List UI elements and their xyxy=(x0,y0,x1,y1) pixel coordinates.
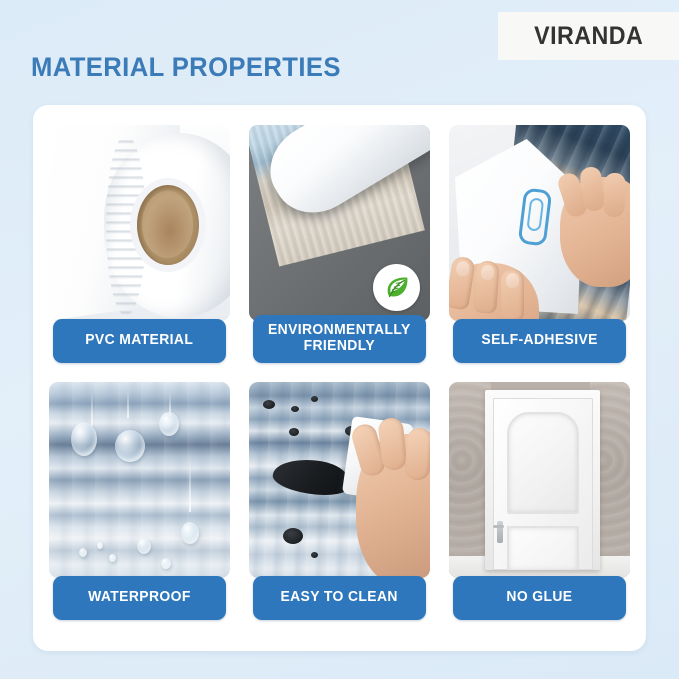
feature-cell-no-glue[interactable]: NO GLUE xyxy=(449,382,630,620)
feature-label-pvc-material: PVC MATERIAL xyxy=(53,319,226,363)
feature-label-no-glue: NO GLUE xyxy=(453,576,626,620)
brand-name: VIRANDA xyxy=(534,22,643,51)
feature-label-self-adhesive: SELF-ADHESIVE xyxy=(453,319,626,363)
feature-label-waterproof: WATERPROOF xyxy=(53,576,226,620)
feature-cell-self-adhesive[interactable]: SELF-ADHESIVE xyxy=(449,125,630,363)
door-handle-icon xyxy=(497,521,503,543)
feature-cell-waterproof[interactable]: WATERPROOF xyxy=(49,382,230,620)
feature-label-text: NO GLUE xyxy=(506,590,572,606)
feature-label-text: EASY TO CLEAN xyxy=(281,590,398,606)
hand-right xyxy=(560,177,630,287)
door-slab xyxy=(493,398,593,570)
feature-image-waterproof xyxy=(49,382,230,578)
roll-core-icon xyxy=(137,185,199,265)
feature-image-pvc-roll xyxy=(49,125,230,321)
feature-image-self-adhesive xyxy=(449,125,630,321)
feature-label-text: WATERPROOF xyxy=(88,590,191,606)
leaf-icon xyxy=(382,273,412,303)
page-title: MATERIAL PROPERTIES xyxy=(31,52,341,83)
door-frame xyxy=(485,390,600,570)
hand-holding-cloth xyxy=(356,434,430,578)
feature-image-eco-wallpaper xyxy=(249,125,430,321)
feature-label-text: SELF-ADHESIVE xyxy=(481,333,597,349)
stain-smear xyxy=(271,454,353,500)
feature-cell-pvc-material[interactable]: PVC MATERIAL xyxy=(49,125,230,363)
eco-leaf-badge xyxy=(373,264,420,311)
feature-grid: PVC MATERIAL xyxy=(49,125,630,620)
feature-card: PVC MATERIAL xyxy=(33,105,646,651)
feature-image-no-glue-door xyxy=(449,382,630,578)
feature-cell-environmentally-friendly[interactable]: ENVIRONMENTALLYFRIENDLY xyxy=(249,125,430,363)
feature-cell-easy-to-clean[interactable]: EASY TO CLEAN xyxy=(249,382,430,620)
feature-image-easy-to-clean xyxy=(249,382,430,578)
brand-logo-box: VIRANDA xyxy=(498,12,679,60)
feature-label-easy-to-clean: EASY TO CLEAN xyxy=(253,576,426,620)
feature-label-text: PVC MATERIAL xyxy=(85,333,193,349)
feature-label-environmentally-friendly: ENVIRONMENTALLYFRIENDLY xyxy=(253,315,426,363)
feature-label-text: ENVIRONMENTALLYFRIENDLY xyxy=(268,323,411,354)
